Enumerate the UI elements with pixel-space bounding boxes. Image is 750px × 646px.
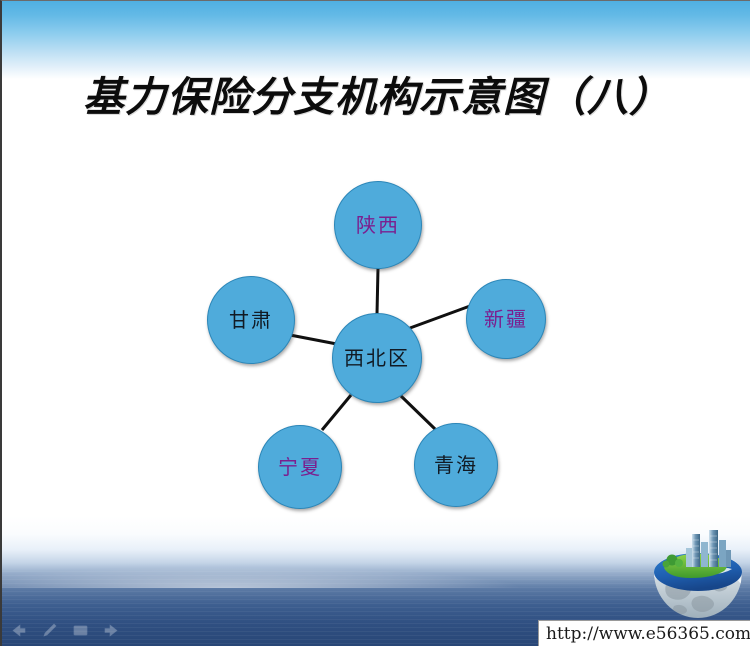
node-center-northwest[interactable]: 西北区 [332, 313, 422, 403]
previous-slide-button[interactable] [10, 623, 27, 638]
pen-tool-button[interactable] [41, 623, 58, 638]
node-qinghai-label: 青海 [434, 455, 478, 475]
presentation-slide: 基力保险分支机构示意图（八） 陕西 新疆 青海 宁夏 [0, 0, 750, 646]
website-url-text: http://www.e56365.com [546, 624, 750, 644]
node-qinghai[interactable]: 青海 [414, 423, 498, 507]
edge-center-xinjiang [410, 306, 470, 328]
slide-menu-button[interactable] [72, 623, 89, 638]
menu-box-icon [72, 623, 89, 638]
edge-center-qinghai [401, 396, 435, 429]
edge-center-shaanxi [377, 268, 378, 314]
node-xinjiang-label: 新疆 [484, 309, 528, 329]
org-diagram: 陕西 新疆 青海 宁夏 甘肃 西北区 [2, 1, 750, 646]
node-ningxia-label: 宁夏 [278, 457, 322, 477]
node-ningxia[interactable]: 宁夏 [258, 425, 342, 509]
node-gansu-label: 甘肃 [229, 310, 273, 330]
left-arrow-icon [10, 623, 27, 638]
node-gansu[interactable]: 甘肃 [207, 276, 295, 364]
node-shaanxi[interactable]: 陕西 [334, 181, 422, 269]
pen-icon [41, 623, 58, 638]
edge-center-ningxia [322, 395, 351, 430]
globe-city-logo [650, 528, 746, 620]
presentation-controls [10, 623, 120, 638]
right-arrow-icon [103, 623, 120, 638]
node-center-label: 西北区 [344, 348, 410, 368]
next-slide-button[interactable] [103, 623, 120, 638]
node-shaanxi-label: 陕西 [356, 215, 400, 235]
website-url-box[interactable]: http://www.e56365.com [538, 620, 750, 646]
node-xinjiang[interactable]: 新疆 [466, 279, 546, 359]
